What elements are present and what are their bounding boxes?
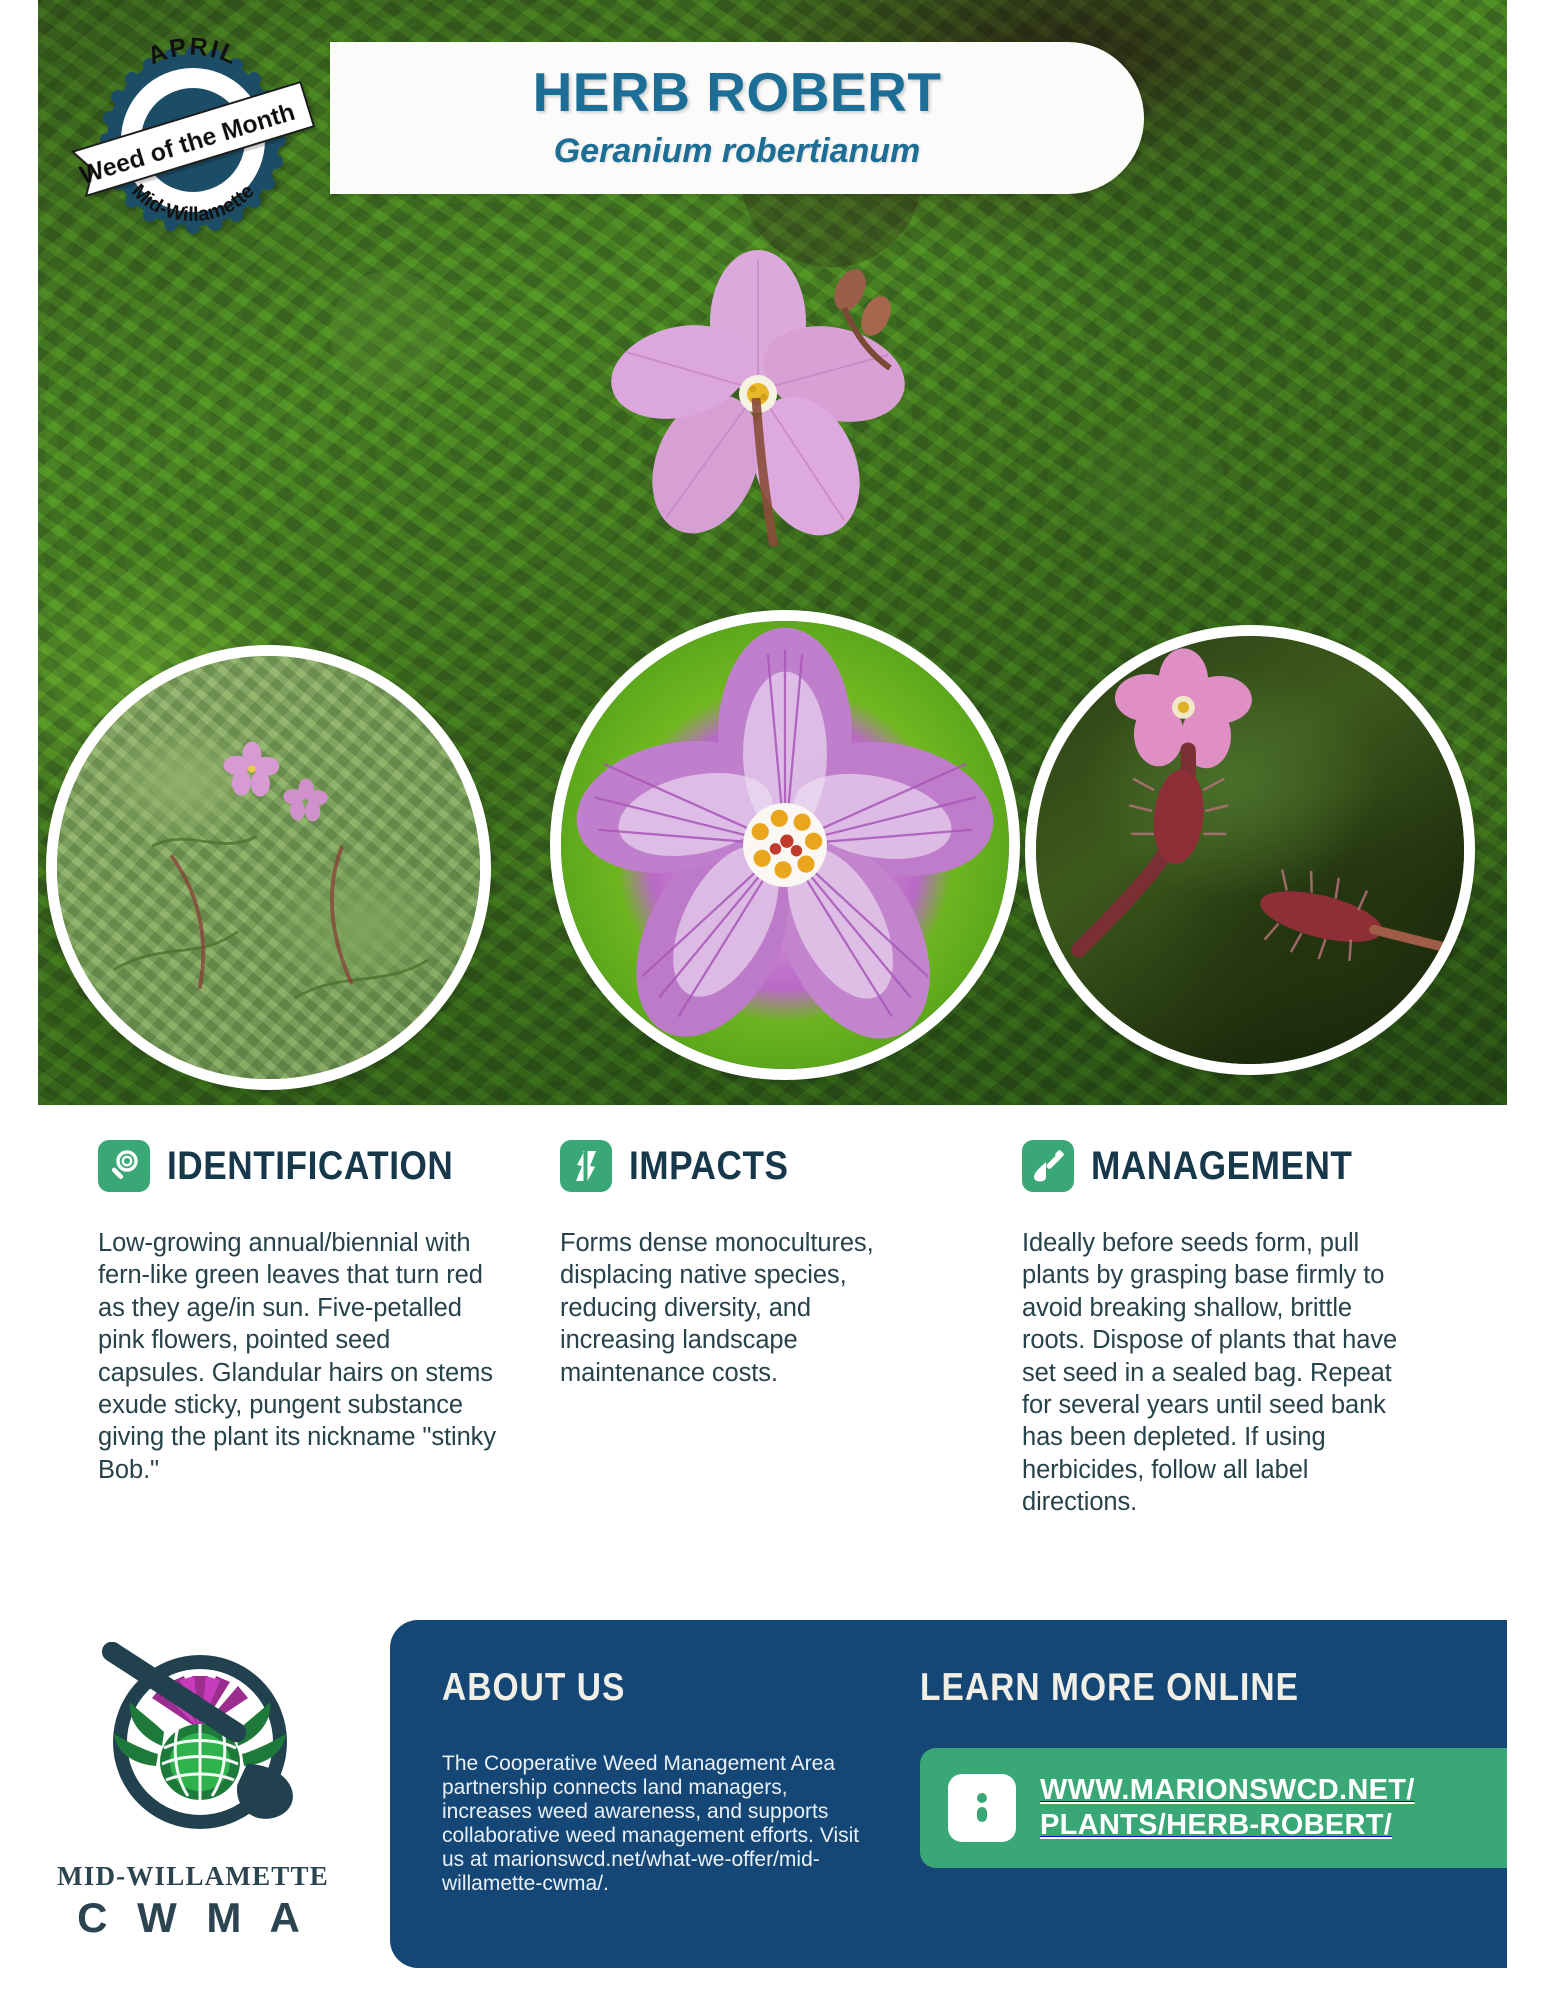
about-us-body: The Cooperative Weed Management Area par… xyxy=(442,1752,872,1896)
section-identification-header: IDENTIFICATION xyxy=(98,1130,498,1202)
learn-more-heading: LEARN MORE ONLINE xyxy=(920,1666,1299,1710)
section-management-body: Ideally before seeds form, pull plants b… xyxy=(1022,1227,1422,1518)
seed-capsule-photo xyxy=(1025,625,1475,1075)
page-title: HERB ROBERT xyxy=(533,65,942,120)
about-us-heading: ABOUT US xyxy=(442,1666,625,1710)
learn-more-url-text: WWW.MARIONSWCD.NET/ PLANTS/HERB-ROBERT/ xyxy=(1040,1773,1415,1844)
logo-line-mid-willamette: MID-WILLAMETTE xyxy=(48,1861,338,1892)
shovel-icon xyxy=(1022,1140,1074,1192)
url-line-1: WWW.MARIONSWCD.NET/ xyxy=(1040,1774,1415,1806)
title-panel: HERB ROBERT Geranium robertianum xyxy=(330,42,1144,194)
section-identification-title: IDENTIFICATION xyxy=(167,1144,453,1189)
section-identification-body: Low-growing annual/biennial with fern-li… xyxy=(98,1227,498,1486)
habit-photo xyxy=(46,645,491,1090)
section-impacts-header: IMPACTS xyxy=(560,1130,925,1202)
url-line-2: PLANTS/HERB-ROBERT/ xyxy=(1040,1809,1392,1841)
logo-line-cwma: C W M A xyxy=(48,1894,338,1942)
section-identification: IDENTIFICATION Low-growing annual/bienni… xyxy=(98,1130,498,1486)
section-management-title: MANAGEMENT xyxy=(1091,1144,1352,1189)
info-icon xyxy=(948,1774,1016,1842)
footer: MID-WILLAMETTE C W M A ABOUT US The Coop… xyxy=(0,1620,1545,2000)
learn-more-url-button[interactable]: WWW.MARIONSWCD.NET/ PLANTS/HERB-ROBERT/ xyxy=(920,1748,1507,1868)
section-impacts-title: IMPACTS xyxy=(629,1144,788,1189)
flyer-page: APRIL Mid-Willamette Weed of the Month H… xyxy=(0,0,1545,2000)
section-management: MANAGEMENT Ideally before seeds form, pu… xyxy=(1022,1130,1422,1518)
footer-panel: ABOUT US The Cooperative Weed Management… xyxy=(390,1620,1507,1968)
thistle-shovel-logo xyxy=(78,1642,308,1857)
scientific-name: Geranium robertianum xyxy=(554,132,921,171)
flower-closeup-photo xyxy=(550,610,1020,1080)
section-impacts: IMPACTS Forms dense monocultures, displa… xyxy=(560,1130,925,1389)
weed-of-the-month-stamp: APRIL Mid-Willamette Weed of the Month xyxy=(78,28,308,220)
section-impacts-body: Forms dense monocultures, displacing nat… xyxy=(560,1227,925,1389)
info-columns: IDENTIFICATION Low-growing annual/bienni… xyxy=(0,1130,1545,1580)
cwma-logo: MID-WILLAMETTE C W M A xyxy=(48,1642,338,1942)
section-management-header: MANAGEMENT xyxy=(1022,1130,1422,1202)
magnifier-icon xyxy=(98,1140,150,1192)
crack-icon xyxy=(560,1140,612,1192)
